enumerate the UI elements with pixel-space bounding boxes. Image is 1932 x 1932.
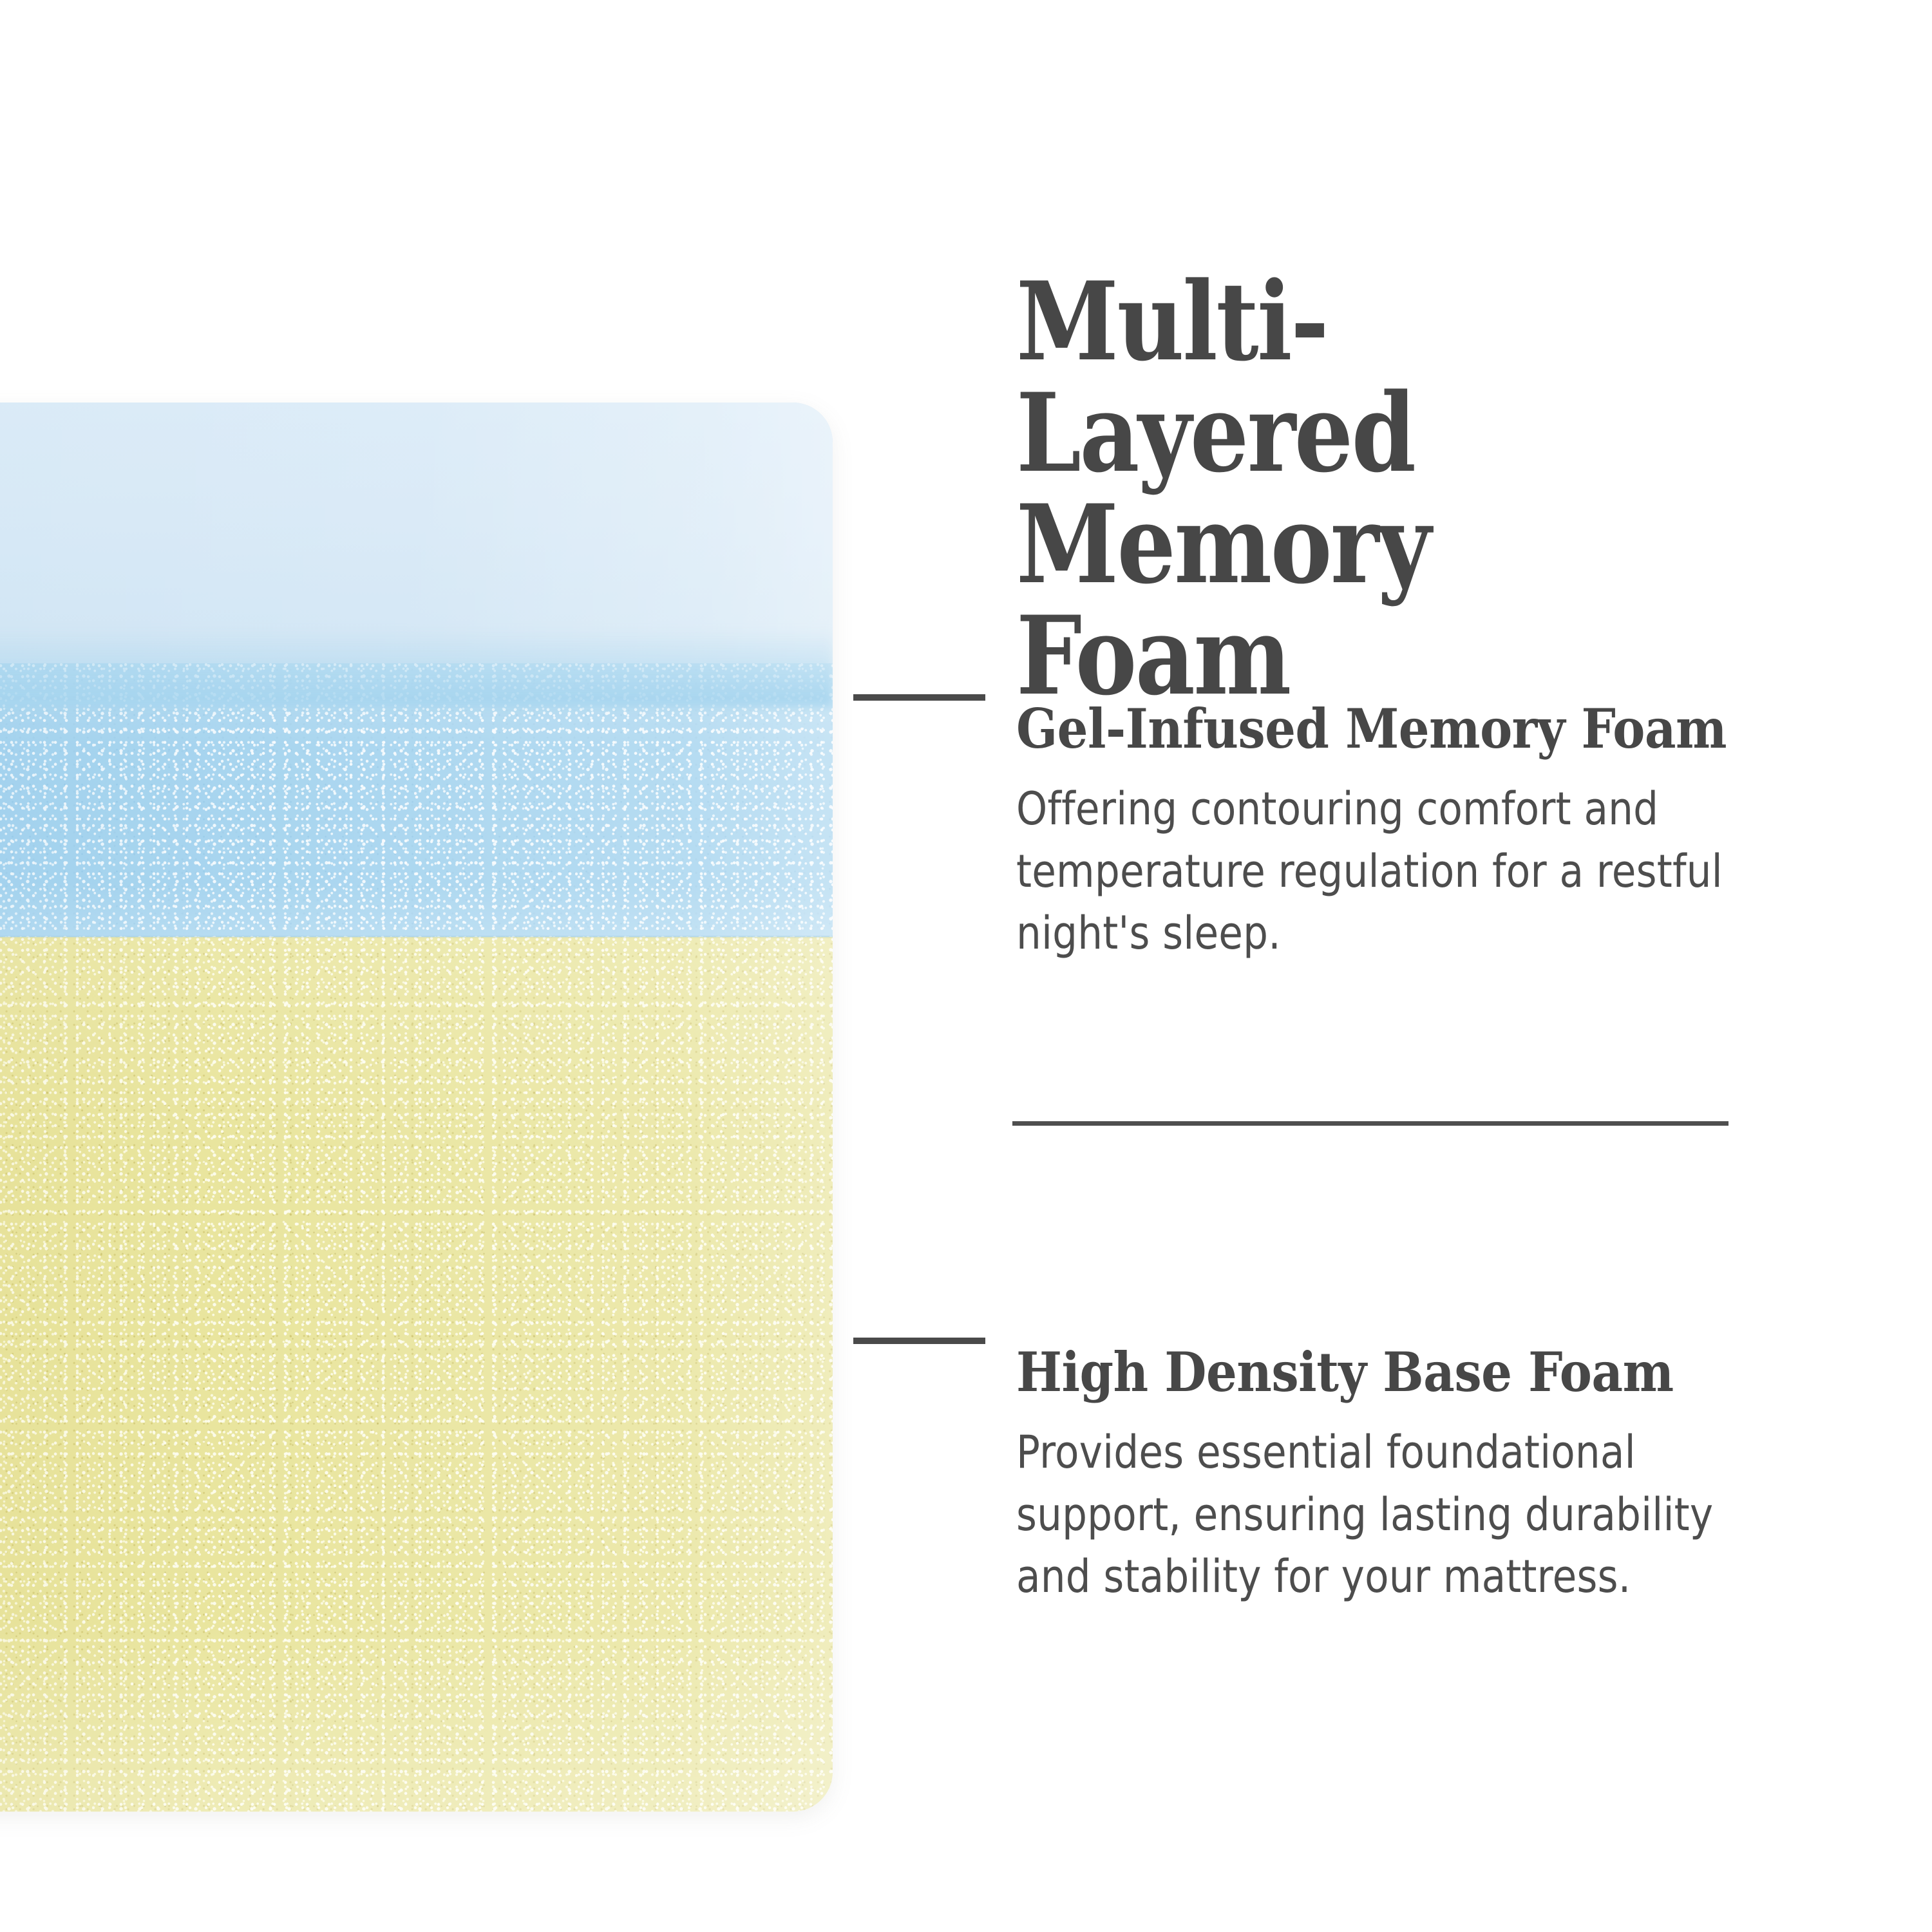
foam-layer-top-surface xyxy=(0,402,833,665)
feature-description: Offering contouring comfort and temperat… xyxy=(1016,778,1760,965)
feature-heading: Gel-Infused Memory Foam xyxy=(1016,702,1727,756)
feature-section-high-density-base-foam: High Density Base Foam Provides essentia… xyxy=(1016,1300,1776,1359)
feature-heading-row: Gel-Infused Memory Foam xyxy=(1016,657,1776,716)
foam-layer-blue-transition xyxy=(0,629,833,706)
foam-layer-seam xyxy=(0,936,833,938)
foam-shading-yellow xyxy=(0,937,833,1812)
foam-texture-yellow xyxy=(0,937,833,1812)
foam-layer-high-density-base-foam xyxy=(0,937,833,1812)
page-title: Multi-Layered Memory Foam xyxy=(1016,266,1666,712)
foam-block-image xyxy=(0,402,833,1812)
feature-heading-row: High Density Base Foam xyxy=(1016,1300,1776,1359)
dash-marker-icon xyxy=(853,1338,985,1344)
feature-description: Provides essential foundational support,… xyxy=(1016,1421,1760,1608)
feature-heading: High Density Base Foam xyxy=(1016,1345,1674,1399)
feature-section-gel-infused-memory-foam: Gel-Infused Memory Foam Offering contour… xyxy=(1016,657,1776,716)
section-divider xyxy=(1012,1121,1728,1126)
content-column: Multi-Layered Memory Foam Gel-Infused Me… xyxy=(1016,0,1776,1932)
dash-marker-icon xyxy=(853,694,985,701)
